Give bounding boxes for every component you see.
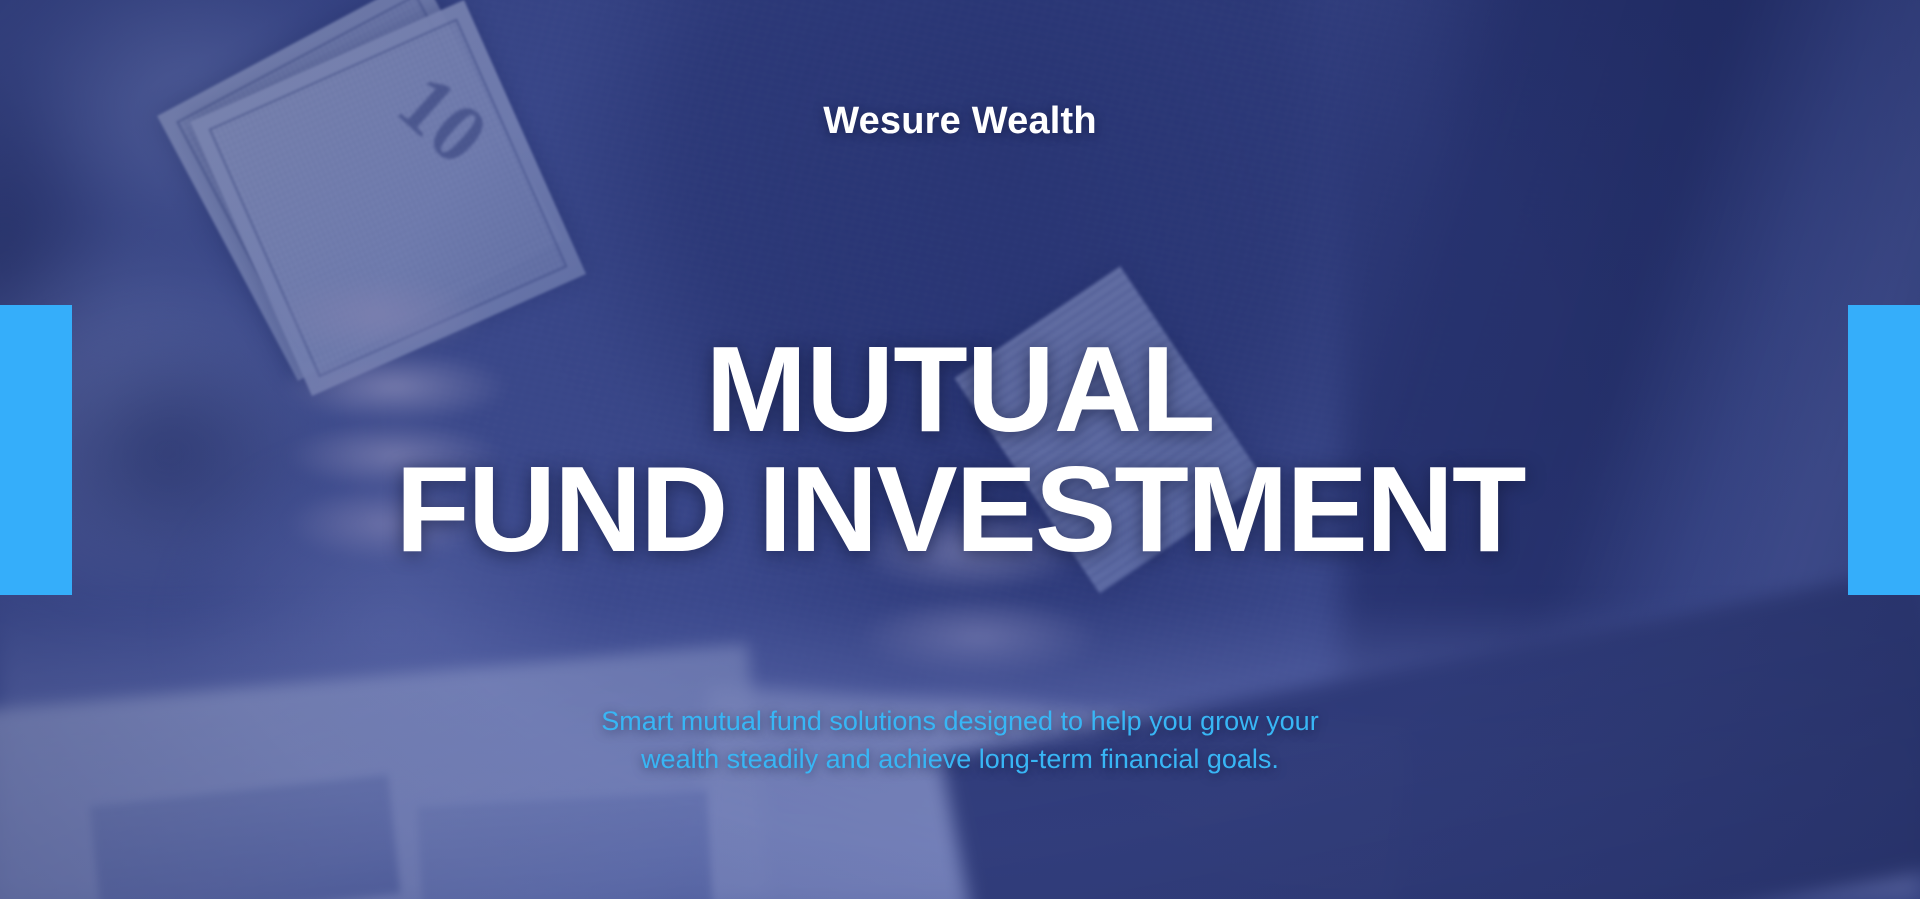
subtitle-line-1: Smart mutual fund solutions designed to … <box>0 702 1920 740</box>
hero-banner: 10 Wesure Wealth MUTUAL FUND INVESTMENT … <box>0 0 1920 899</box>
hero-subtitle: Smart mutual fund solutions designed to … <box>0 702 1920 779</box>
headline-line-1: MUTUAL <box>0 330 1920 450</box>
page-title: MUTUAL FUND INVESTMENT <box>0 330 1920 569</box>
brand-name: Wesure Wealth <box>0 102 1920 140</box>
subtitle-line-2: wealth steadily and achieve long-term fi… <box>0 740 1920 778</box>
headline-line-2: FUND INVESTMENT <box>0 450 1920 570</box>
hero-content: Wesure Wealth MUTUAL FUND INVESTMENT Sma… <box>0 0 1920 899</box>
